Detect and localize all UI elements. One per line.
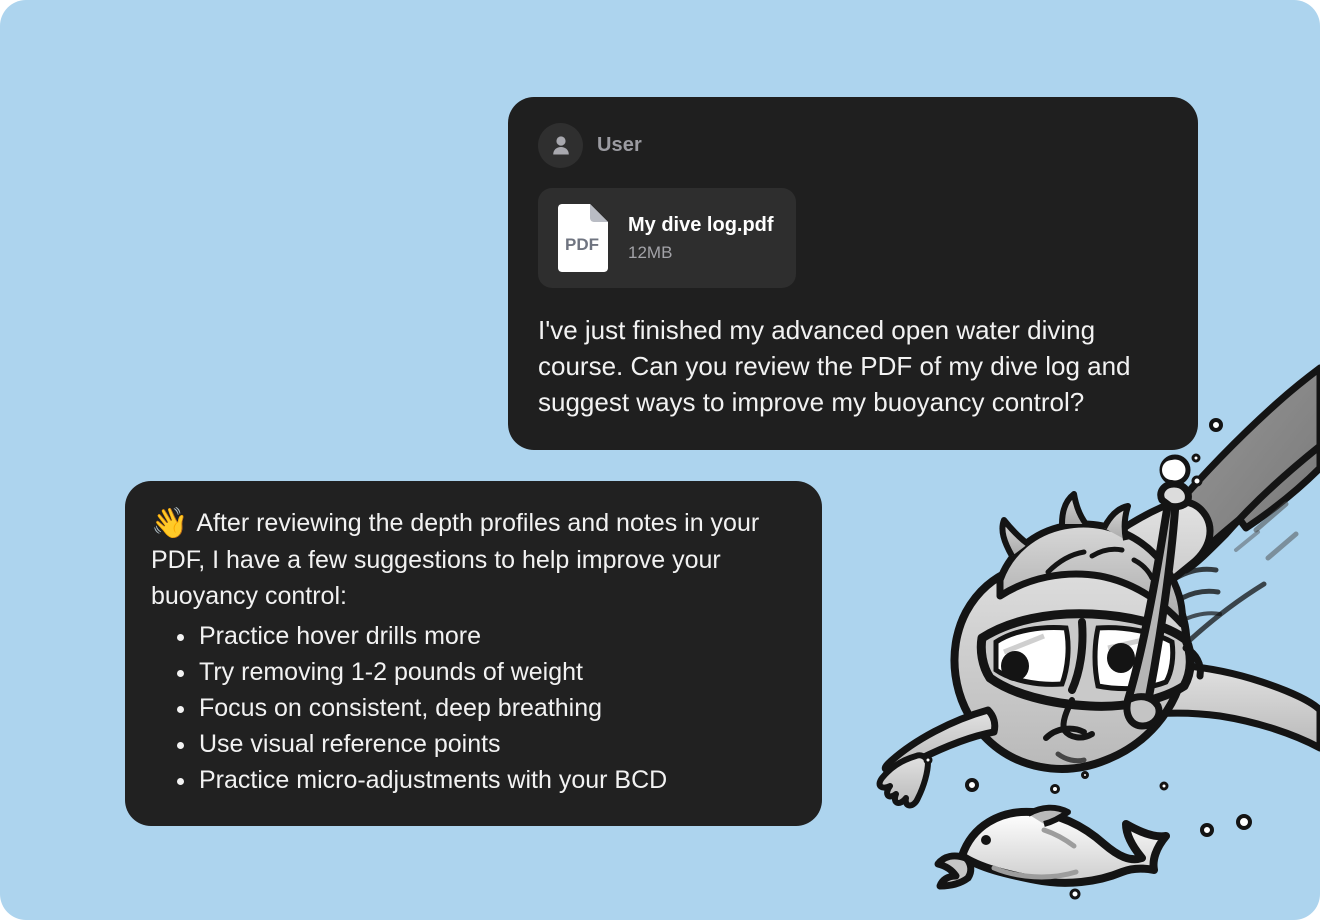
list-item: Use visual reference points (173, 726, 794, 762)
diver-suit-shade-line-2 (1236, 532, 1258, 550)
water-stroke-1 (1176, 569, 1216, 578)
bubble-large-2 (1162, 460, 1182, 480)
bubble-tiny-4 (1052, 786, 1059, 793)
diver-hand (880, 755, 928, 805)
bubble-tiny-8 (925, 757, 931, 763)
diver-hair-spike-1 (1002, 520, 1028, 556)
diver-mask-bridge (1072, 622, 1083, 690)
diver-hair-spike-2 (1062, 494, 1086, 524)
assistant-message-bubble: 👋After reviewing the depth profiles and … (125, 481, 822, 826)
bubble-large-1 (1162, 457, 1188, 483)
diver-snorkel-mouthpiece (1127, 697, 1159, 726)
attachment-file-size: 12MB (628, 243, 774, 263)
diver-hair-spike-3 (1104, 506, 1128, 540)
bubble-tiny-5 (1161, 783, 1167, 789)
diver-snorkel (1128, 481, 1176, 707)
diver-snorkel-top (1161, 484, 1189, 507)
screenshot-root: User PDF My dive log.pdf 12MB I've just … (0, 0, 1320, 920)
attachment-meta: My dive log.pdf 12MB (628, 214, 774, 263)
diver-head (954, 542, 1186, 769)
diver-collarbone (1190, 584, 1264, 640)
fish-eye (981, 835, 991, 845)
bubble-small-4 (1202, 825, 1212, 835)
fish-illustration (938, 808, 1166, 886)
list-item: Practice micro-adjustments with your BCD (173, 762, 794, 798)
bubble-tiny-6 (1071, 890, 1079, 898)
diver-mask-lens-left (996, 628, 1068, 685)
diver-hair (1000, 524, 1182, 624)
diver-torso (1046, 502, 1210, 646)
bubble-tiny-7 (1083, 773, 1088, 778)
list-item: Try removing 1-2 pounds of weight (173, 654, 794, 690)
assistant-intro-text: After reviewing the depth profiles and n… (151, 509, 759, 610)
air-bubbles (925, 400, 1250, 898)
diver-mask-lens-right (1095, 628, 1173, 689)
waving-hand-emoji: 👋 (151, 507, 188, 540)
fish-tail (938, 856, 971, 886)
bubble-small-2 (1211, 420, 1221, 430)
bubble-small-5 (1238, 816, 1250, 828)
assistant-message-intro: 👋After reviewing the depth profiles and … (151, 505, 794, 614)
fish-dorsal-fin (1028, 808, 1068, 824)
diver-hair-line-2 (1092, 549, 1122, 556)
fish-side-line (1044, 830, 1074, 846)
water-stroke-3 (1188, 613, 1220, 618)
diver-eye-right (1107, 643, 1135, 673)
diver-chin-line (1058, 754, 1084, 761)
list-item: Practice hover drills more (173, 618, 794, 654)
diver-suit-shade-line-3 (1268, 534, 1296, 558)
fish-body (962, 812, 1166, 883)
diver-near-arm (885, 710, 995, 770)
svg-text:PDF: PDF (565, 235, 599, 254)
list-item: Focus on consistent, deep breathing (173, 690, 794, 726)
diver-nose (1063, 700, 1092, 737)
diver-mask-glare-left (1004, 636, 1044, 652)
diver-eye-left (1001, 651, 1029, 681)
user-avatar-icon (538, 123, 583, 168)
bubble-small-3 (967, 780, 977, 790)
diver-mouth (1046, 729, 1084, 738)
assistant-suggestion-list: Practice hover drills more Try removing … (151, 618, 794, 798)
diver-suit-hem (1180, 520, 1238, 570)
user-message-header: User (538, 123, 1168, 168)
water-stroke-2 (1182, 591, 1218, 598)
bubble-tiny-3 (1193, 477, 1201, 485)
attachment-chip[interactable]: PDF My dive log.pdf 12MB (538, 188, 796, 288)
diver-mask (981, 614, 1190, 707)
bubble-tiny-2 (1193, 455, 1199, 461)
pdf-file-icon: PDF (554, 202, 610, 274)
diver-hair-line-1 (1048, 552, 1084, 572)
user-message-text: I've just finished my advanced open wate… (538, 312, 1168, 420)
fish-belly-line (994, 868, 1076, 877)
user-message-bubble: User PDF My dive log.pdf 12MB I've just … (508, 97, 1198, 450)
diver-mask-glare-right (1108, 638, 1152, 648)
diver-wetsuit (1212, 380, 1320, 528)
diver-suit-shade-line-1 (1256, 504, 1286, 530)
user-message-author: User (597, 134, 642, 157)
attachment-file-name: My dive log.pdf (628, 214, 774, 237)
diver-hair-line-3 (1134, 560, 1152, 578)
diver-mask-strap (1186, 648, 1200, 676)
diver-far-arm (1098, 664, 1320, 748)
